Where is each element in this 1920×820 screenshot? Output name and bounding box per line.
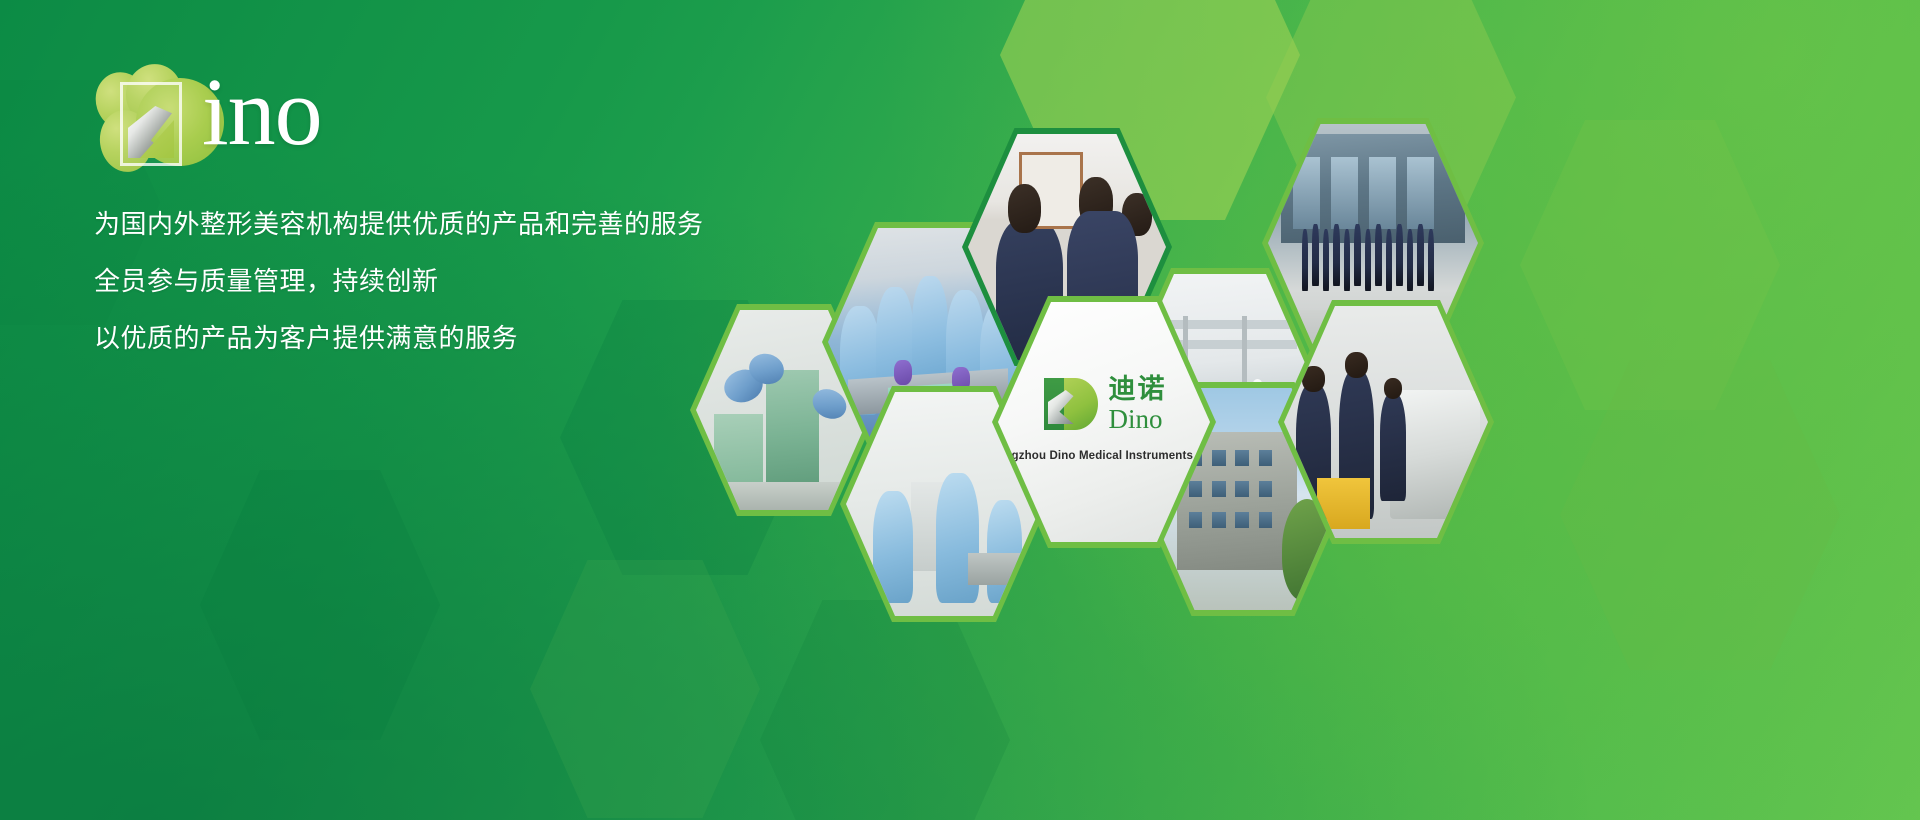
badge-logo-row: 迪诺® Dino (1042, 376, 1167, 434)
badge-chinese-name: 迪诺 (1109, 374, 1167, 405)
badge-english-name: Dino (1109, 405, 1167, 433)
badge-logo-text: 迪诺® Dino (1109, 376, 1167, 433)
badge-company-name: Hangzhou Dino Medical Instruments Co.. (998, 450, 1210, 462)
company-badge: 迪诺® Dino Hangzhou Dino Medical Instrumen… (998, 302, 1210, 542)
machining-shop-photo (1284, 306, 1488, 538)
hexagon-photo-cluster: 迪诺® Dino Hangzhou Dino Medical Instrumen… (0, 0, 1920, 820)
dino-logomark-icon (1042, 376, 1100, 434)
hero-banner: ino 为国内外整形美容机构提供优质的产品和完善的服务 全员参与质量管理，持续创… (0, 0, 1920, 820)
